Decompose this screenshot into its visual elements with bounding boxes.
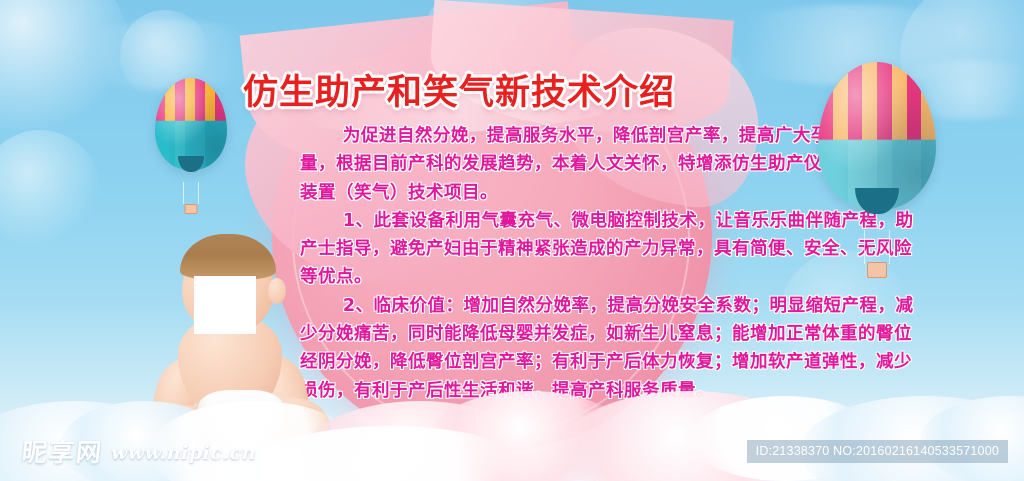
cloud-puff xyxy=(690,396,880,481)
balloon-cords xyxy=(864,230,890,264)
site-logo-text: 昵享网 xyxy=(21,440,105,465)
site-url-text: www.nipic.cn xyxy=(111,444,256,465)
cloud-puff xyxy=(920,396,1024,481)
balloon-cords xyxy=(183,182,199,204)
baby-ear xyxy=(268,278,286,304)
paragraph-item-2: 2、临床价值：增加自然分娩率，提高分娩安全系数；明显缩短产程，减少分娩痛苦，同时… xyxy=(300,292,920,405)
page-title: 仿生助产和笑气新技术介绍 xyxy=(243,70,663,116)
poster-canvas: 仿生助产和笑气新技术介绍 为促进自然分娩，提高服务水平，降低剖宫产率，提高广大孕… xyxy=(0,0,1024,481)
bokeh-circle xyxy=(0,130,100,250)
site-watermark: 昵享网 www.nipic.cn xyxy=(22,440,256,465)
white-censor-square xyxy=(194,276,256,334)
cloud-puff xyxy=(800,396,1024,481)
crawling-baby-photo xyxy=(150,238,340,453)
baby-hair xyxy=(180,234,276,280)
balloon-basket xyxy=(867,262,887,278)
paragraph-item-1: 1、此套设备利用气囊充气、微电脑控制技术，让音乐乐曲伴随产程，助产士指导，避免产… xyxy=(300,207,920,292)
hot-air-balloon-icon xyxy=(818,62,936,210)
balloon-basket xyxy=(185,204,198,214)
hot-air-balloon-icon xyxy=(155,78,227,170)
asset-id-badge: ID:21338370 NO:20160216140533571000 xyxy=(747,440,1008,464)
